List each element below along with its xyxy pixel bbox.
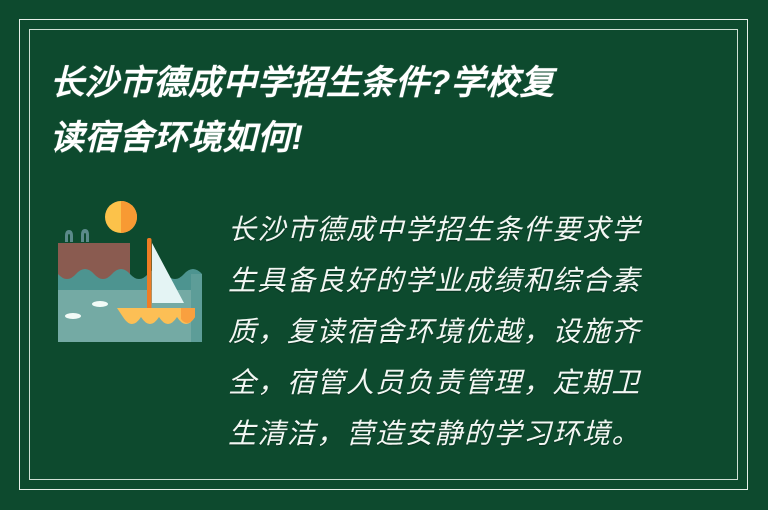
- chimney-icon: [65, 229, 89, 242]
- body-line-4: 全，宿管人员负责管理，定期卫: [228, 358, 660, 409]
- page-title: 长沙市德成中学招生条件?学校复 读宿舍环境如何!: [50, 56, 690, 166]
- title-line-2: 读宿舍环境如何!: [50, 111, 690, 166]
- water-body: [58, 269, 202, 342]
- body-line-2: 生具备良好的学业成绩和综合素: [228, 256, 660, 307]
- body-line-3: 质，复读宿舍环境优越，设施齐: [228, 307, 660, 358]
- body-line-5: 生清洁，营造安静的学习环境。: [228, 409, 660, 460]
- poster-canvas: 长沙市德成中学招生条件?学校复 读宿舍环境如何!: [0, 0, 768, 510]
- body-line-1: 长沙市德成中学招生条件要求学: [228, 205, 660, 256]
- sailboat-harbor-icon: [55, 195, 205, 345]
- article-body: 长沙市德成中学招生条件要求学 生具备良好的学业成绩和综合素 质，复读宿舍环境优越…: [228, 205, 660, 460]
- title-line-1: 长沙市德成中学招生条件?学校复: [50, 56, 690, 111]
- sun-icon: [105, 201, 137, 233]
